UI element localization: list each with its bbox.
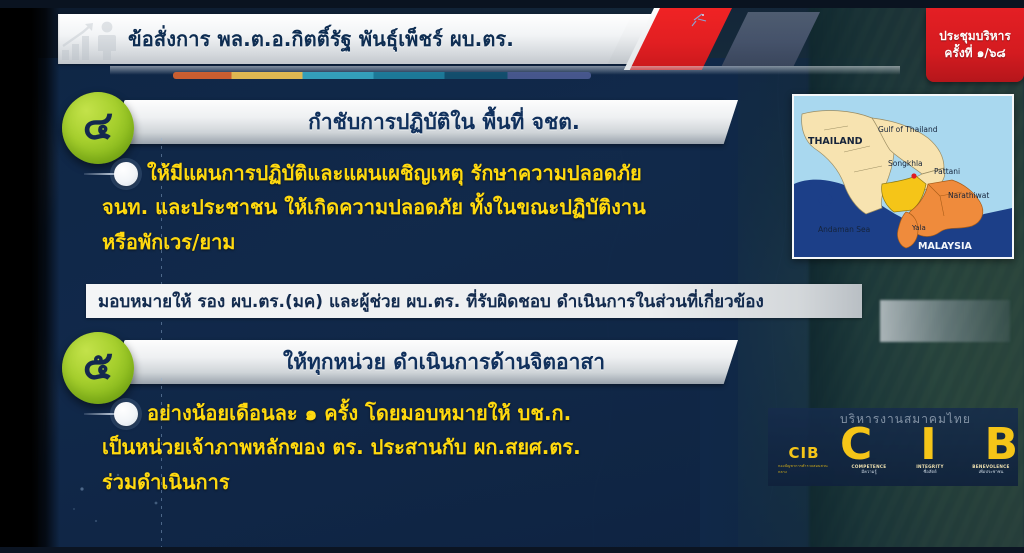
cib-value-benevolence: BENEVOLENCE เพื่อประชาชน (962, 464, 1020, 474)
cib-letters: C I B (840, 422, 1018, 468)
left-vignette (0, 0, 60, 553)
cib-logo: บริหารงานสมาคมไทย C I B CIB กองบัญชาการต… (768, 408, 1018, 486)
cib-mark-text: CIB (788, 446, 819, 461)
cib-letter-i: I (920, 423, 936, 467)
cib-value-competence-th: มีความรู้ (840, 469, 898, 474)
header-accent-strip (173, 72, 591, 79)
section-4-bullet-dot (114, 162, 138, 186)
sparkle-icon (686, 12, 720, 28)
section-4-body: ให้มีแผนการปฏิบัติและแผนเผชิญเหตุ รักษาค… (62, 156, 802, 259)
svg-text:Songkhla: Songkhla (888, 159, 923, 168)
section-4-title: กำชับการปฏิบัติใน พื้นที่ จชต. (124, 100, 724, 144)
section-5-line-2: เป็นหน่วยเจ้าภาพหลักของ ตร. ประสานกับ ผก… (102, 430, 802, 464)
cib-letter-b: B (984, 423, 1018, 467)
svg-text:Andaman Sea: Andaman Sea (818, 225, 870, 234)
cib-value-integrity-th: ซื่อสัตย์ (901, 469, 959, 474)
section-5-dashed-guide (161, 378, 162, 553)
top-vignette (0, 0, 1024, 8)
section-4-highlight-text: มอบหมายให้ รอง ผบ.ตร.(มค) และผู้ช่วย ผบ.… (98, 288, 764, 315)
section-5-header: ให้ทุกหน่วย ดำเนินการด้านจิตอาสา ๕ (62, 332, 802, 394)
svg-text:Pattani: Pattani (934, 167, 960, 176)
cib-mark: CIB กองบัญชาการตำรวจสอบสวนกลาง (778, 446, 830, 472)
section-5-line-1: อย่างน้อยเดือนละ ๑ ครั้ง โดยมอบหมายให้ บ… (102, 396, 802, 430)
svg-text:MALAYSIA: MALAYSIA (918, 241, 973, 252)
cib-value-benevolence-th: เพื่อประชาชน (962, 469, 1020, 474)
cib-value-competence: COMPETENCE มีความรู้ (840, 464, 898, 474)
section-5-title: ให้ทุกหน่วย ดำเนินการด้านจิตอาสา (124, 340, 724, 384)
section-4-highlight-bar: มอบหมายให้ รอง ผบ.ตร.(มค) และผู้ช่วย ผบ.… (86, 284, 862, 318)
section-5: ให้ทุกหน่วย ดำเนินการด้านจิตอาสา ๕ อย่าง… (62, 332, 802, 499)
section-5-bullet-dot (114, 402, 138, 426)
header: ข้อสั่งการ พล.ต.อ.กิตติ์รัฐ พันธุ์เพ็ชร์… (48, 8, 1024, 82)
meeting-badge-line1: ประชุมบริหาร (939, 29, 1011, 44)
section-4: กำชับการปฏิบัติใน พื้นที่ จชต. ๔ ให้มีแผ… (62, 92, 802, 259)
svg-text:THAILAND: THAILAND (808, 136, 863, 147)
background-smudge (880, 300, 1010, 342)
cib-letter-c: C (840, 423, 872, 467)
meeting-badge-line2: ครั้งที่ ๑/๖๘ (944, 46, 1005, 61)
slide-stage: ข้อสั่งการ พล.ต.อ.กิตติ์รัฐ พันธุ์เพ็ชร์… (0, 0, 1024, 553)
page-title: ข้อสั่งการ พล.ต.อ.กิตติ์รัฐ พันธุ์เพ็ชร์… (128, 14, 514, 64)
section-4-line-2: จนท. และประชาชน ให้เกิดความปลอดภัย ทั้งใ… (102, 190, 802, 224)
section-5-line-3: ร่วมดำเนินการ (102, 465, 802, 499)
svg-text:Narathiwat: Narathiwat (948, 191, 989, 200)
svg-text:Gulf of Thailand: Gulf of Thailand (878, 125, 938, 134)
cib-value-integrity: INTEGRITY ซื่อสัตย์ (901, 464, 959, 474)
meeting-badge: ประชุมบริหาร ครั้งที่ ๑/๖๘ (926, 8, 1024, 82)
section-4-line-1: ให้มีแผนการปฏิบัติและแผนเผชิญเหตุ รักษาค… (102, 156, 802, 190)
header-gray-slash (722, 12, 820, 66)
section-4-header: กำชับการปฏิบัติใน พื้นที่ จชต. ๔ (62, 92, 802, 154)
map-graphic: THAILAND Gulf of Thailand Songkhla Patta… (794, 96, 1012, 257)
svg-text:Yala: Yala (911, 224, 926, 232)
section-5-body: อย่างน้อยเดือนละ ๑ ครั้ง โดยมอบหมายให้ บ… (62, 396, 802, 499)
section-4-line-3: หรือพักเวร/ยาม (102, 225, 802, 259)
cib-values: COMPETENCE มีความรู้ INTEGRITY ซื่อสัตย์… (840, 464, 1020, 474)
bottom-vignette (0, 547, 1024, 553)
cib-mark-sub: กองบัญชาการตำรวจสอบสวนกลาง (778, 463, 830, 475)
southern-thailand-map: THAILAND Gulf of Thailand Songkhla Patta… (792, 94, 1014, 259)
